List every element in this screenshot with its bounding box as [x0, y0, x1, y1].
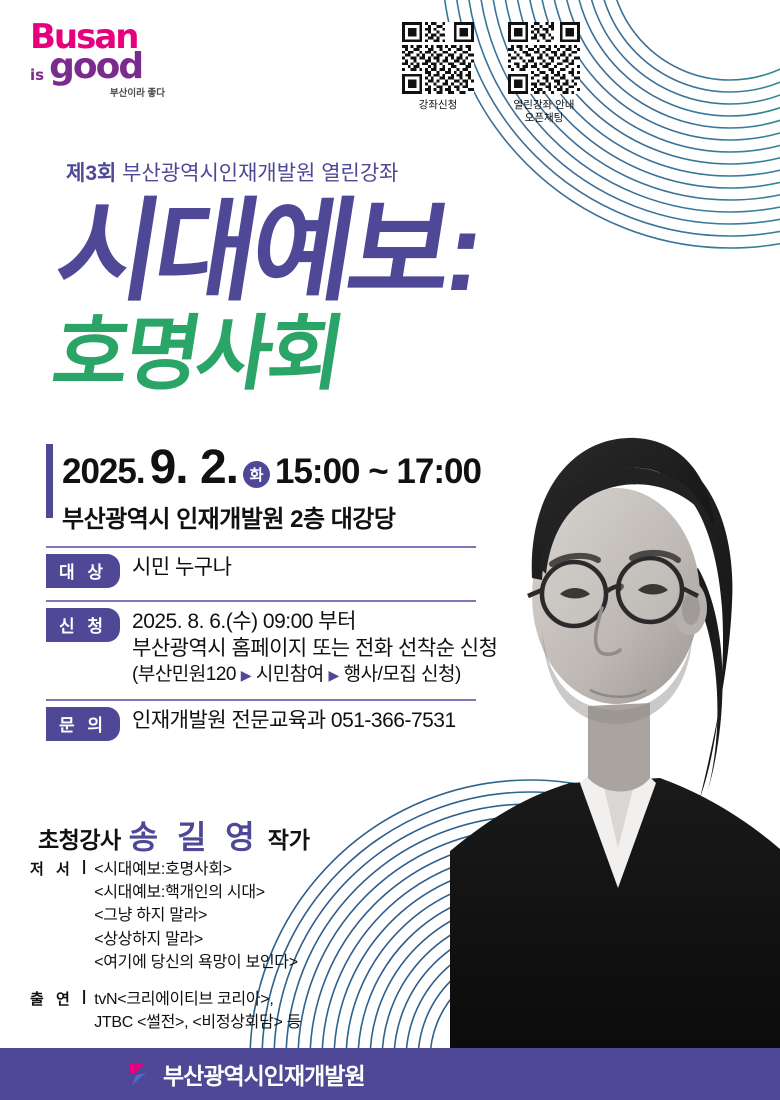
info-label-application: 신 청 [46, 608, 120, 642]
info-row-application: 신 청 2025. 8. 6.(수) 09:00 부터 부산광역시 홈페이지 또… [46, 600, 516, 687]
speaker-prefix: 초청강사 [38, 827, 121, 853]
speaker-portrait [450, 328, 780, 1048]
apply-qr-icon[interactable] [402, 22, 474, 94]
info-label-contact: 문 의 [46, 707, 120, 741]
credits-label-appearances: 출 연 [30, 988, 82, 1009]
application-channel: 부산광역시 홈페이지 또는 전화 선착순 신청 [132, 635, 497, 662]
info-value-audience: 시민 누구나 [132, 554, 231, 581]
logo-good-text: good [49, 52, 142, 82]
credits-list-books: <시대예보:호명사회> <시대예보:핵개인의 시대> <그냥 하지 말라> <상… [94, 858, 298, 974]
credits-list-appearances: tvN<크리에이티브 코리아>, JTBC <썰전>, <비정상회담> 등 [94, 988, 301, 1034]
application-path: (부산민원120 ▶ 시민참여 ▶ 행사/모집 신청) [132, 663, 497, 688]
list-item: <시대예보:호명사회> [94, 858, 298, 881]
application-path-prefix: (부산민원120 [132, 664, 236, 685]
speaker-suffix: 작가 [268, 827, 310, 853]
application-path-step-2: 행사/모집 신청) [344, 664, 461, 685]
speaker-name: 송 길 영 [129, 819, 260, 855]
list-item: <여기에 당신의 욕망이 보인다> [94, 951, 298, 974]
qr-item-openchat[interactable]: 열린강좌 안내오픈채팅 [502, 22, 586, 125]
list-item: tvN<크리에이티브 코리아>, [94, 988, 301, 1011]
list-item: <그냥 하지 말라> [94, 904, 298, 927]
schedule-month-day: 9. 2. [150, 440, 238, 495]
logo-is-text: is [30, 69, 44, 81]
application-path-step-1: 시민참여 [256, 664, 324, 685]
kicker-subtitle: 부산광역시인재개발원 열린강좌 [116, 162, 398, 185]
info-row-contact: 문 의 인재개발원 전문교육과 051-366-7531 [46, 699, 516, 741]
qr-code-group: 강좌신청 [396, 22, 586, 125]
qr-caption-apply: 강좌신청 [396, 99, 480, 112]
poster-canvas: Busan is good 부산이라 좋다 [0, 0, 780, 1100]
info-row-audience: 대 상 시민 누구나 [46, 546, 516, 588]
credits-separator-appearances: | [82, 988, 86, 1005]
credits-appearances: 출 연 | tvN<크리에이티브 코리아>, JTBC <썰전>, <비정상회담… [30, 988, 400, 1034]
credits-books: 저 서 | <시대예보:호명사회> <시대예보:핵개인의 시대> <그냥 하지 … [30, 858, 400, 974]
speaker-credits: 저 서 | <시대예보:호명사회> <시대예보:핵개인의 시대> <그냥 하지 … [30, 858, 400, 1048]
footer-organization: 부산광역시인재개발원 [163, 1057, 365, 1091]
application-open-datetime: 2025. 8. 6.(수) 09:00 부터 [132, 608, 497, 635]
speaker-headline: 초청강사송 길 영작가 [38, 812, 310, 858]
qr-item-apply[interactable]: 강좌신청 [396, 22, 480, 125]
credits-label-books: 저 서 [30, 858, 82, 879]
info-label-audience: 대 상 [46, 554, 120, 588]
speaker-portrait-image [450, 328, 780, 1048]
title-line-secondary: 호명사회 [48, 314, 347, 396]
info-value-contact: 인재개발원 전문교육과 051-366-7531 [132, 707, 456, 734]
institute-logo-icon [128, 1061, 154, 1087]
busan-is-good-logo: Busan is good 부산이라 좋다 [30, 24, 165, 99]
event-kicker: 제3회 부산광역시인재개발원 열린강좌 [66, 157, 398, 187]
chevron-right-icon: ▶ [241, 667, 251, 683]
openchat-qr-icon[interactable] [508, 22, 580, 94]
list-item: <상상하지 말라> [94, 928, 298, 951]
qr-caption-openchat: 열린강좌 안내오픈채팅 [502, 99, 586, 125]
list-item: JTBC <썰전>, <비정상회담> 등 [94, 1011, 301, 1034]
info-value-application: 2025. 8. 6.(수) 09:00 부터 부산광역시 홈페이지 또는 전화… [132, 608, 497, 687]
schedule-day-of-week-badge: 화 [243, 461, 270, 488]
list-item: <시대예보:핵개인의 시대> [94, 881, 298, 904]
kicker-ordinal: 제3회 [66, 162, 116, 185]
footer-bar: 부산광역시인재개발원 [0, 1048, 780, 1100]
logo-tagline: 부산이라 좋다 [30, 85, 165, 99]
info-section: 대 상 시민 누구나 신 청 2025. 8. 6.(수) 09:00 부터 부… [46, 546, 516, 753]
credits-separator-books: | [82, 858, 86, 875]
schedule-year: 2025. [62, 452, 145, 492]
title-line-primary: 시대예보: [49, 196, 486, 308]
chevron-right-icon-2: ▶ [329, 667, 339, 683]
